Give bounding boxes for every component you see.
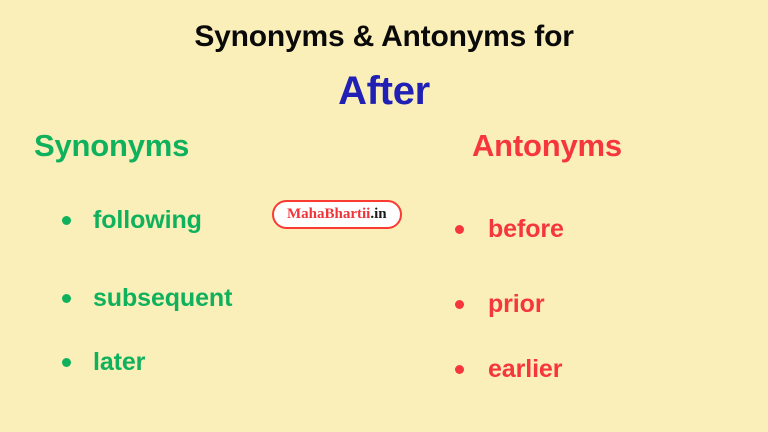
antonym-word: before <box>488 215 564 243</box>
synonyms-column: Synonyms following subsequent later <box>0 128 384 377</box>
synonym-word: later <box>93 348 145 376</box>
bullet-icon <box>62 358 71 367</box>
bullet-icon <box>62 294 71 303</box>
antonyms-list: before prior earlier <box>384 214 768 384</box>
word-columns: Synonyms following subsequent later Anto… <box>0 128 768 428</box>
antonym-word: prior <box>488 290 544 318</box>
list-item: subsequent <box>0 283 384 313</box>
headword: After <box>0 68 768 114</box>
bullet-icon <box>455 365 464 374</box>
list-item: before <box>384 214 768 244</box>
synonyms-list: following subsequent later <box>0 205 384 377</box>
synonym-word: following <box>93 206 202 234</box>
bullet-icon <box>455 225 464 234</box>
antonyms-column: Antonyms before prior earlier <box>384 128 768 384</box>
page-title: Synonyms & Antonyms for <box>0 18 768 56</box>
antonyms-heading: Antonyms <box>384 128 768 164</box>
bullet-icon <box>455 300 464 309</box>
title-block: Synonyms & Antonyms for After <box>0 18 768 114</box>
synonyms-antonyms-card: Synonyms & Antonyms for After Synonyms f… <box>0 0 768 432</box>
antonym-word: earlier <box>488 355 562 383</box>
watermark-badge: MahaBhartii.in <box>272 200 402 229</box>
watermark-tld: .in <box>370 206 386 222</box>
list-item: prior <box>384 289 768 319</box>
synonyms-heading: Synonyms <box>0 128 384 164</box>
watermark-name: MahaBhartii <box>287 206 370 222</box>
bullet-icon <box>62 216 71 225</box>
list-item: later <box>0 347 384 377</box>
list-item: earlier <box>384 354 768 384</box>
synonym-word: subsequent <box>93 284 232 312</box>
